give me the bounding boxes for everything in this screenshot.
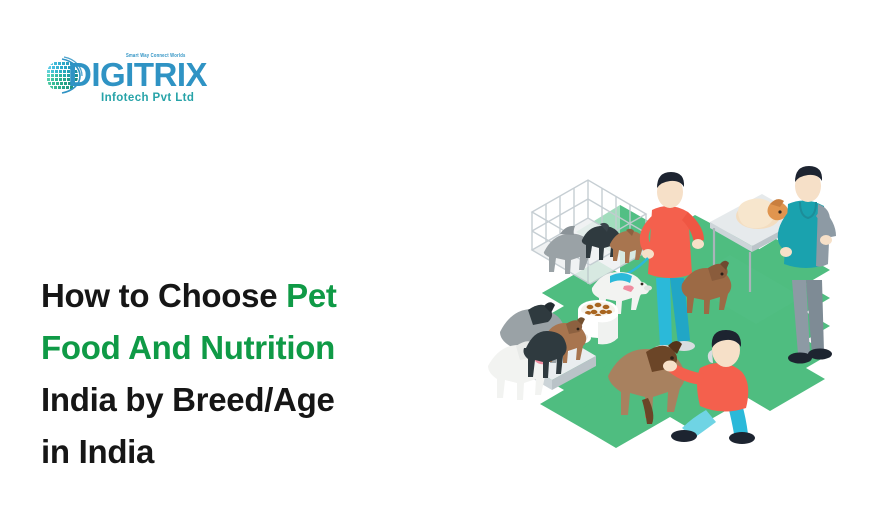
pet-shelter-isometric-illustration [470,160,890,460]
company-logo[interactable]: DIGITRIX Smart Way Connect Worlds Infote… [42,50,202,112]
promotional-banner: DIGITRIX Smart Way Connect Worlds Infote… [0,0,891,520]
headline-line2-green: Food And Nutrition [41,329,335,366]
logo-subtitle: Infotech Pvt Ltd [101,92,194,104]
page-title: How to Choose Pet Food And Nutrition Ind… [41,270,441,478]
logo-wordmark: DIGITRIX [68,58,207,91]
headline-line1-green: Pet [286,277,336,314]
logo-tagline: Smart Way Connect Worlds [126,52,185,59]
headline-line1-black: How to Choose [41,277,286,314]
headline-line4-black: in India [41,433,154,470]
headline-line3-black: India by Breed/Age [41,381,335,418]
